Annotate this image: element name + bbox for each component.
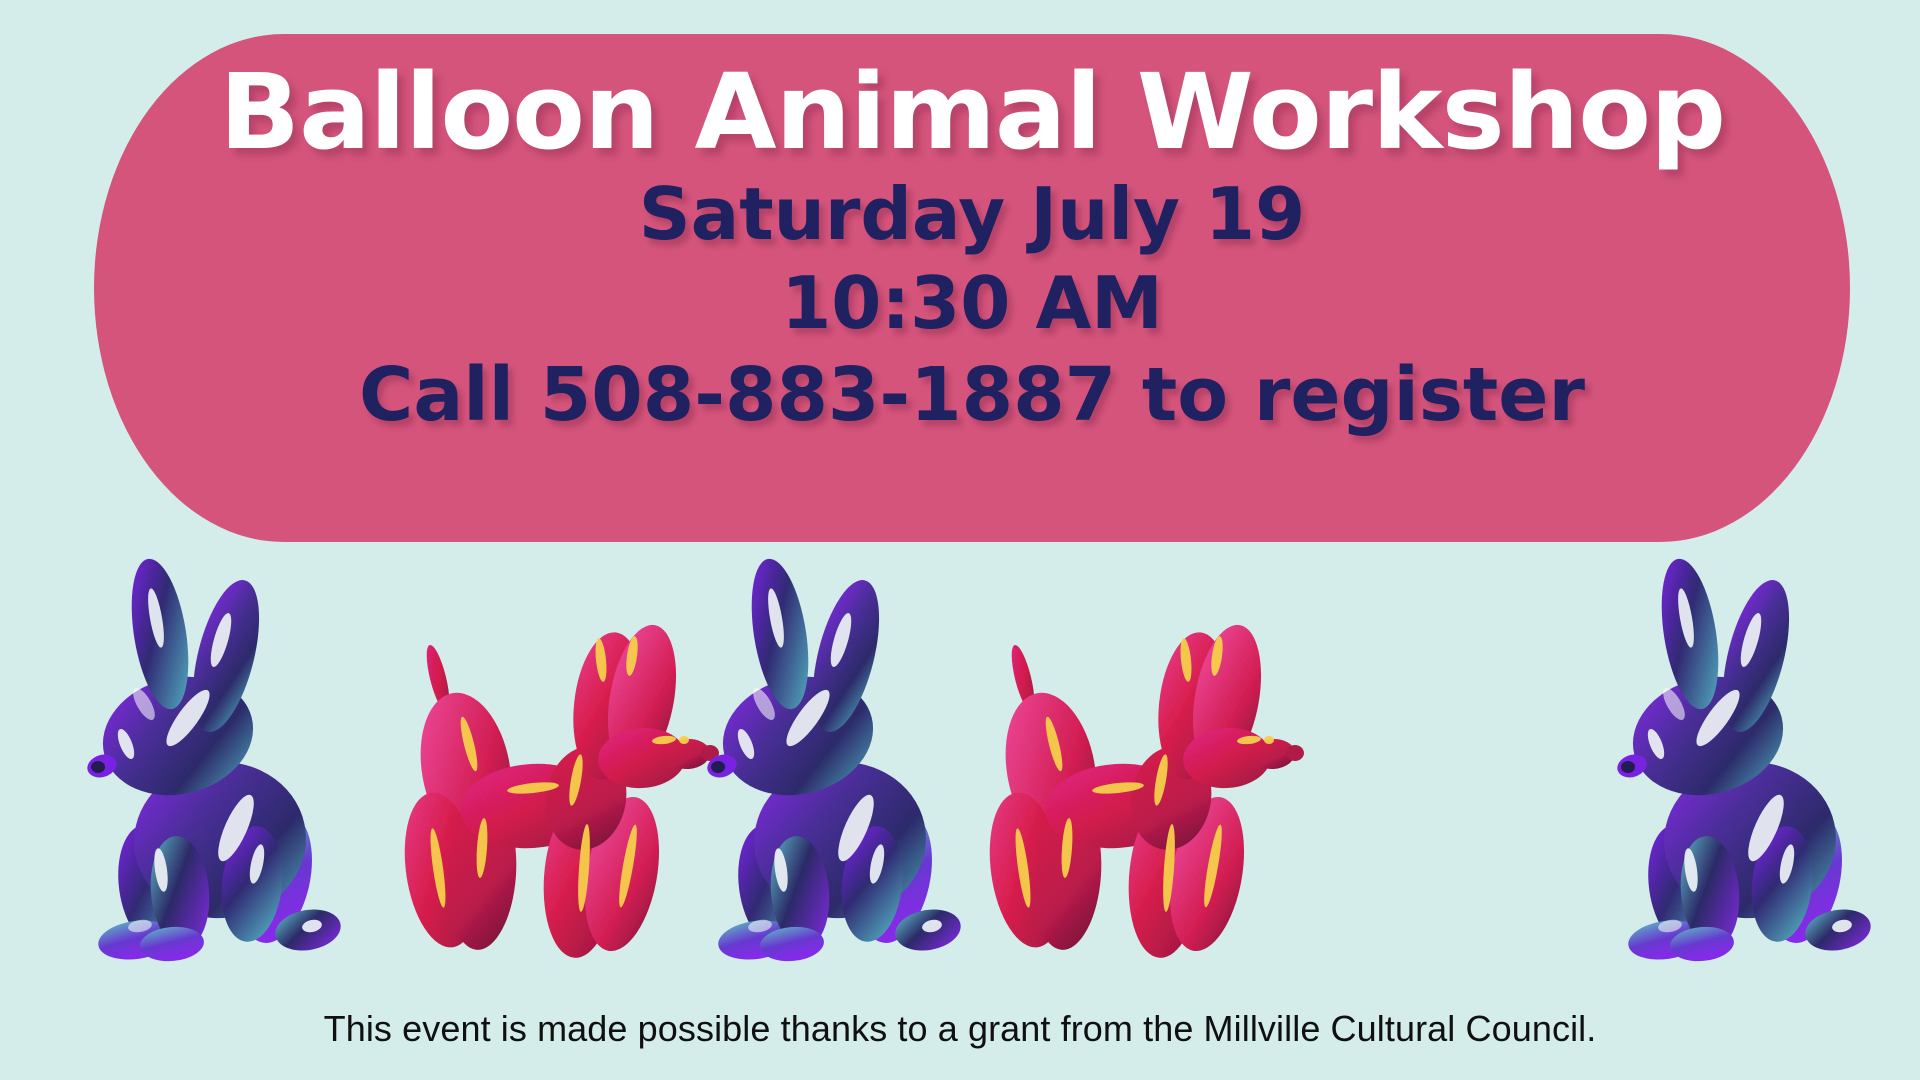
- banner-content: Balloon Animal Workshop Saturday July 19…: [94, 34, 1850, 542]
- event-time: 10:30 AM: [781, 261, 1163, 346]
- balloon-dog-purple-3: [1570, 548, 1920, 968]
- grant-credit-caption: This event is made possible thanks to a …: [0, 1008, 1920, 1050]
- balloon-dog-pink-2: [955, 548, 1315, 968]
- balloon-dog-purple-1: [40, 548, 400, 968]
- event-date: Saturday July 19: [639, 172, 1305, 257]
- event-banner: Balloon Animal Workshop Saturday July 19…: [94, 34, 1850, 542]
- balloon-dog-row: [0, 548, 1920, 968]
- page-title: Balloon Animal Workshop: [219, 56, 1725, 168]
- registration-phone: Call 508-883-1887 to register: [359, 352, 1585, 439]
